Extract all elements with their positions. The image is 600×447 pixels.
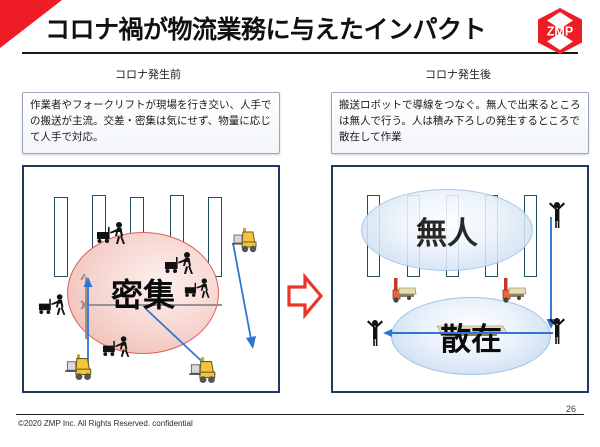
caption-after: コロナ発生後 bbox=[368, 66, 548, 82]
person-icon bbox=[547, 315, 567, 345]
page-number: 26 bbox=[566, 404, 576, 414]
diagram-before: 密集 bbox=[22, 165, 280, 393]
flow-arrow-down bbox=[229, 239, 259, 354]
page-title: コロナ禍が物流業務に与えたインパクト bbox=[45, 8, 475, 52]
svg-text:ZMP: ZMP bbox=[547, 25, 573, 39]
slide-canvas: コロナ禍が物流業務に与えたインパクト ZMP コロナ発生前 コロナ発生後 作業者… bbox=[0, 0, 600, 447]
diagram-after: 無人 散在 bbox=[331, 165, 589, 393]
agv-robot-icon bbox=[389, 275, 419, 307]
forklift-icon bbox=[62, 350, 96, 382]
header-divider bbox=[22, 52, 578, 54]
worker-with-cart-icon bbox=[184, 277, 214, 301]
callout-before: 作業者やフォークリフトが現場を行き交い、人手での搬送が主流。交差・密集は気にせず… bbox=[22, 92, 280, 154]
transition-arrow bbox=[286, 272, 324, 320]
worker-with-cart-icon bbox=[102, 335, 134, 360]
unmanned-zone-label: 無人 bbox=[416, 208, 478, 253]
forklift-icon bbox=[186, 353, 220, 385]
right-arrow-icon bbox=[286, 272, 324, 320]
zmp-logo-icon: ZMP bbox=[534, 6, 586, 56]
caption-before: コロナ発生前 bbox=[58, 66, 238, 82]
copyright-notice: ©2020 ZMP Inc. All Rights Reserved. conf… bbox=[18, 419, 193, 428]
worker-with-cart-icon bbox=[96, 221, 130, 247]
person-icon bbox=[365, 317, 385, 347]
forklift-icon bbox=[229, 224, 261, 254]
callout-after: 搬送ロボットで導線をつなぐ。無人で出来るところは無人で行う。人は積み下ろしの発生… bbox=[331, 92, 589, 154]
unmanned-zone-ellipse: 無人 bbox=[361, 189, 533, 271]
worker-with-cart-icon bbox=[38, 293, 70, 318]
person-icon bbox=[547, 199, 567, 229]
flow-arrow-horizontal bbox=[381, 327, 559, 339]
agv-robot-icon bbox=[499, 275, 529, 307]
footer-divider bbox=[16, 414, 584, 415]
shelf-rack bbox=[54, 197, 68, 277]
zmp-logo: ZMP bbox=[534, 6, 586, 56]
dense-zone-label: 密集 bbox=[111, 270, 175, 316]
